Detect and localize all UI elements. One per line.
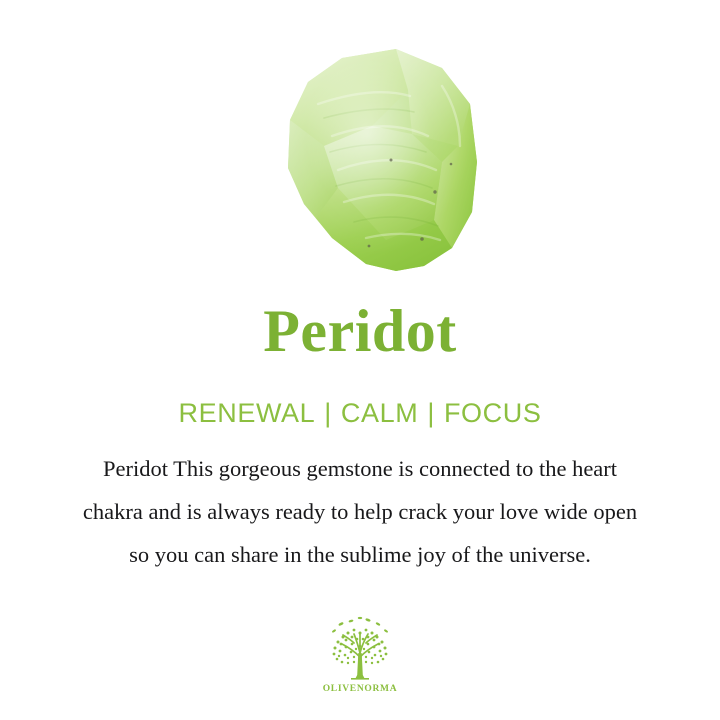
description-text: Peridot This gorgeous gemstone is connec…: [24, 447, 696, 576]
keyword-focus: FOCUS: [444, 398, 542, 428]
tree-ground-line: [351, 678, 369, 680]
keyword-renewal: RENEWAL: [179, 398, 316, 428]
stone-gloss: [288, 49, 477, 271]
keyword-separator-2: |: [418, 398, 444, 428]
keyword-separator-1: |: [315, 398, 341, 428]
description-line-2: chakra and is always ready to help crack…: [24, 490, 696, 533]
product-info-card: Peridot RENEWAL|CALM|FOCUS Peridot This …: [0, 0, 720, 720]
brand-wordmark: OLIVENORMA: [310, 684, 410, 694]
olive-tree-icon: [310, 613, 410, 683]
keyword-list: RENEWAL|CALM|FOCUS: [0, 397, 720, 429]
page-title: Peridot: [0, 298, 720, 364]
keyword-calm: CALM: [341, 398, 418, 428]
description-line-3: so you can share in the sublime joy of t…: [24, 533, 696, 576]
brand-logo: OLIVENORMA: [310, 613, 410, 701]
description-line-1: Peridot This gorgeous gemstone is connec…: [24, 447, 696, 490]
peridot-gemstone-illustration: [246, 42, 484, 276]
peridot-gemstone-image: [246, 42, 484, 276]
